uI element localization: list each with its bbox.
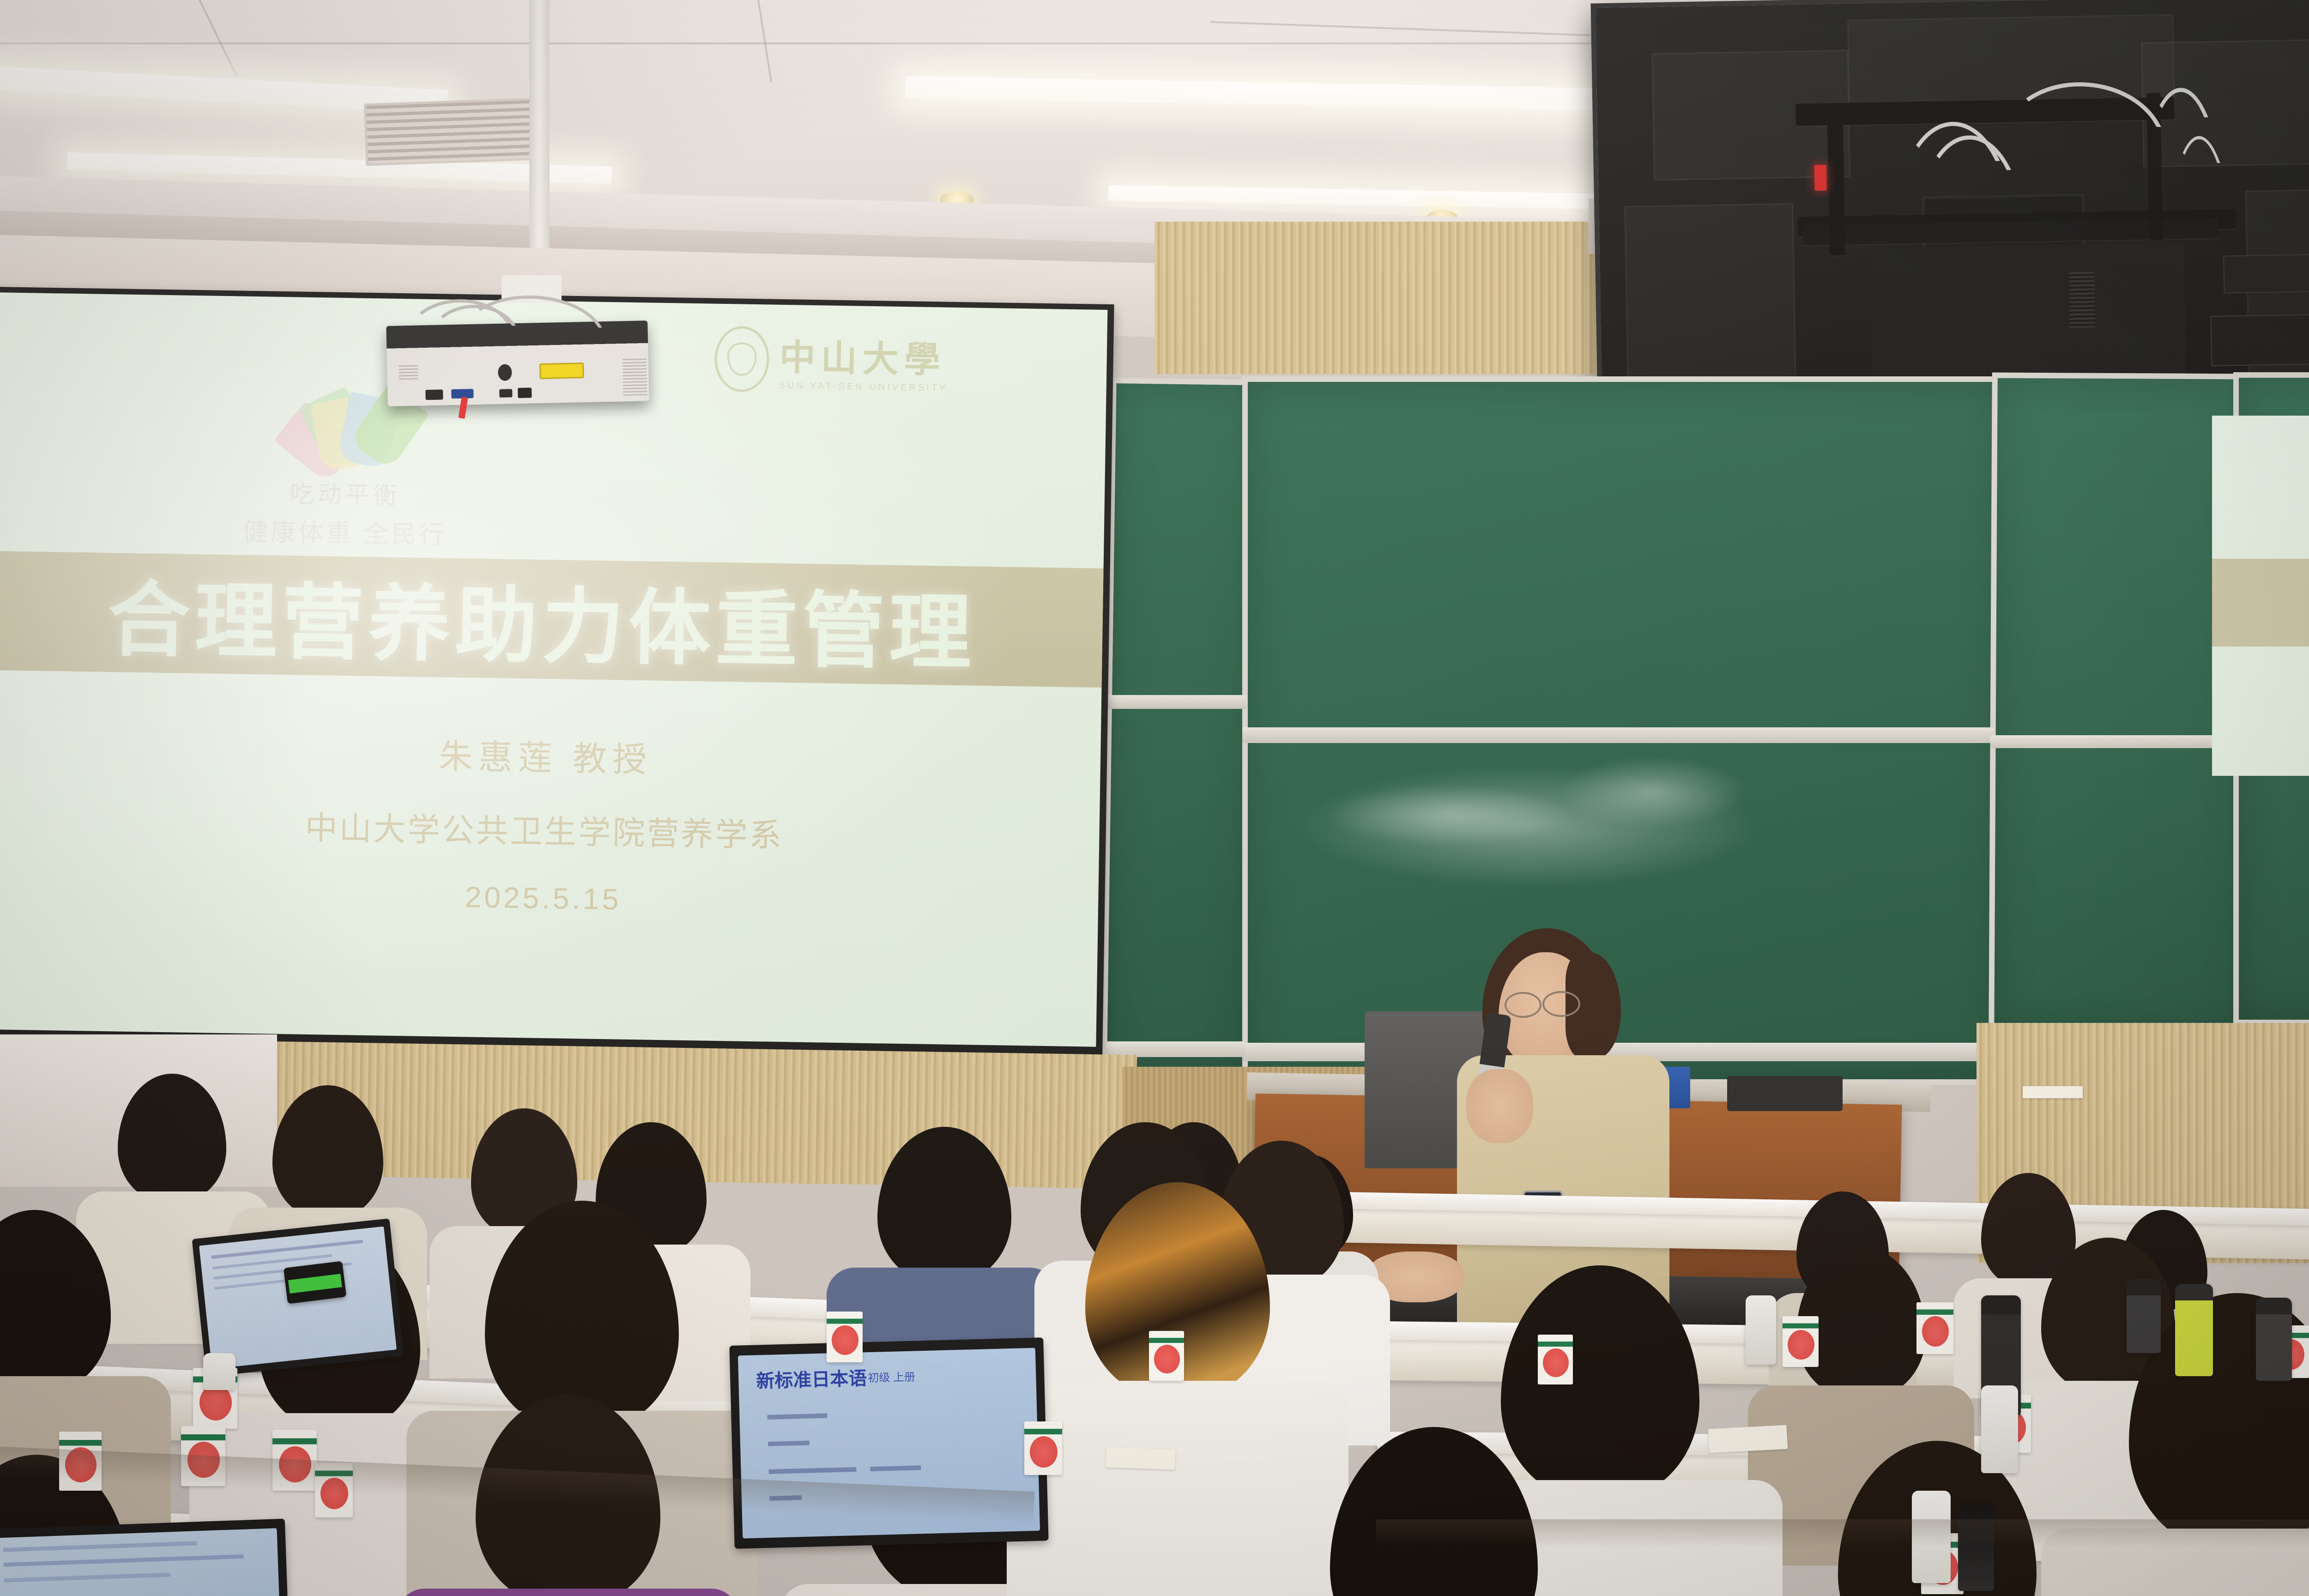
blackboard-left [1101, 378, 1260, 1083]
tv-spec-label [2223, 254, 2309, 294]
thermos[interactable] [1958, 1503, 1994, 1591]
document-text-line [768, 1441, 810, 1446]
university-crest-icon [714, 326, 770, 393]
student-laptop-bottom-left[interactable] [0, 1519, 288, 1596]
water-bottle[interactable] [2256, 1298, 2292, 1381]
presenter-glasses [1542, 991, 1580, 1017]
tv-sub-housing-vent [2069, 272, 2096, 327]
water-bottle[interactable] [203, 1353, 236, 1390]
water-bottle[interactable] [1746, 1295, 1776, 1365]
phone-screen [287, 1264, 343, 1300]
crest-inner-shield [727, 342, 757, 376]
document-text-line [767, 1413, 827, 1419]
university-logo: 中山大學 SUN YAT-SEN UNIVERSITY [714, 326, 949, 395]
document-text-line [870, 1465, 921, 1471]
carton-label [1030, 1436, 1058, 1468]
carton-label [832, 1325, 858, 1355]
slide-title-band: 合理营养助力体重管理 [0, 551, 1104, 688]
tv-port-recess [2210, 313, 2309, 366]
document-subtitle: 初级 上册 [868, 1367, 916, 1385]
lectern-papers [2023, 1086, 2083, 1098]
wood-slat-wall-upper [1154, 222, 1616, 374]
document-text-line [4, 1572, 170, 1583]
presenter-affiliation: 中山大学公共卫生学院营养学系 [0, 797, 1100, 861]
lectern-laptop [1727, 1076, 1843, 1111]
document-text-line [4, 1554, 244, 1567]
hvac-vent [364, 98, 537, 166]
presentation-slide: 中山大學 SUN YAT-SEN UNIVERSITY 吃动平衡 健康体重 全民… [0, 292, 1107, 1047]
projection-screen: 中山大學 SUN YAT-SEN UNIVERSITY 吃动平衡 健康体重 全民… [0, 292, 1107, 1047]
document-text-line [3, 1541, 197, 1552]
water-bottle[interactable] [2127, 1279, 2161, 1353]
projector-drop-pole [529, 0, 550, 277]
presenter-glasses [1505, 992, 1541, 1018]
notebook-page[interactable] [1708, 1425, 1788, 1453]
water-bottle[interactable] [2175, 1284, 2213, 1376]
projector-lens [498, 364, 512, 381]
projector-vent [399, 365, 418, 381]
slide-title: 合理营养助力体重管理 [107, 553, 977, 685]
carton-label [1154, 1345, 1180, 1373]
milk-carton[interactable] [1024, 1421, 1062, 1475]
carton-label [1788, 1330, 1814, 1360]
desk-shadow [1376, 1519, 2309, 1547]
projector-warning-label [539, 363, 584, 379]
milk-carton[interactable] [1538, 1335, 1573, 1384]
milk-carton[interactable] [827, 1312, 863, 1362]
projector-lan-port [518, 387, 532, 398]
carton-label [1543, 1348, 1569, 1377]
lecture-hall-photo: 中山大學 SUN YAT-SEN UNIVERSITY 吃动平衡 健康体重 全民… [0, 0, 2309, 1596]
chalk-rail [1242, 727, 1995, 743]
audience-torso [397, 1589, 739, 1596]
presentation-date: 2025.5.15 [0, 872, 1099, 924]
document-text-line [768, 1467, 856, 1474]
audience-torso [1007, 1381, 1348, 1596]
status-led [1814, 165, 1827, 191]
water-bottle[interactable] [1981, 1385, 2018, 1473]
laptop-display[interactable] [0, 1528, 279, 1596]
carton-label [1922, 1316, 1949, 1347]
projector-vent [623, 358, 647, 396]
milk-carton[interactable] [1149, 1331, 1184, 1381]
document-title: 新标准日本语 [756, 1363, 867, 1393]
projection-screen-right [2212, 416, 2309, 776]
student-phone[interactable] [284, 1261, 347, 1304]
university-name-chinese: 中山大學 [779, 328, 949, 383]
slide-title-band-right [2212, 559, 2309, 647]
document-text-line [211, 1240, 363, 1259]
projector-hdmi-port [425, 389, 443, 400]
ceiling-mounted-display [1590, 0, 2309, 410]
tv-sub-housing [1870, 242, 2186, 387]
chalk-rail [1106, 695, 1247, 709]
milk-carton[interactable] [1783, 1316, 1819, 1367]
presenter-name: 朱惠莲 教授 [0, 722, 1101, 789]
notebook-page[interactable] [1106, 1447, 1175, 1469]
milk-carton[interactable] [1916, 1302, 1953, 1354]
projector-usb-port [499, 389, 512, 398]
chalk-rail [1990, 735, 2242, 748]
presenter-hand-holding-mic [1466, 1069, 1533, 1143]
slide-byline: 朱惠莲 教授 中山大学公共卫生学院营养学系 2025.5.15 [0, 722, 1101, 924]
vesa-mount-column [1827, 103, 1845, 256]
campaign-line-1: 吃动平衡 [234, 473, 456, 512]
